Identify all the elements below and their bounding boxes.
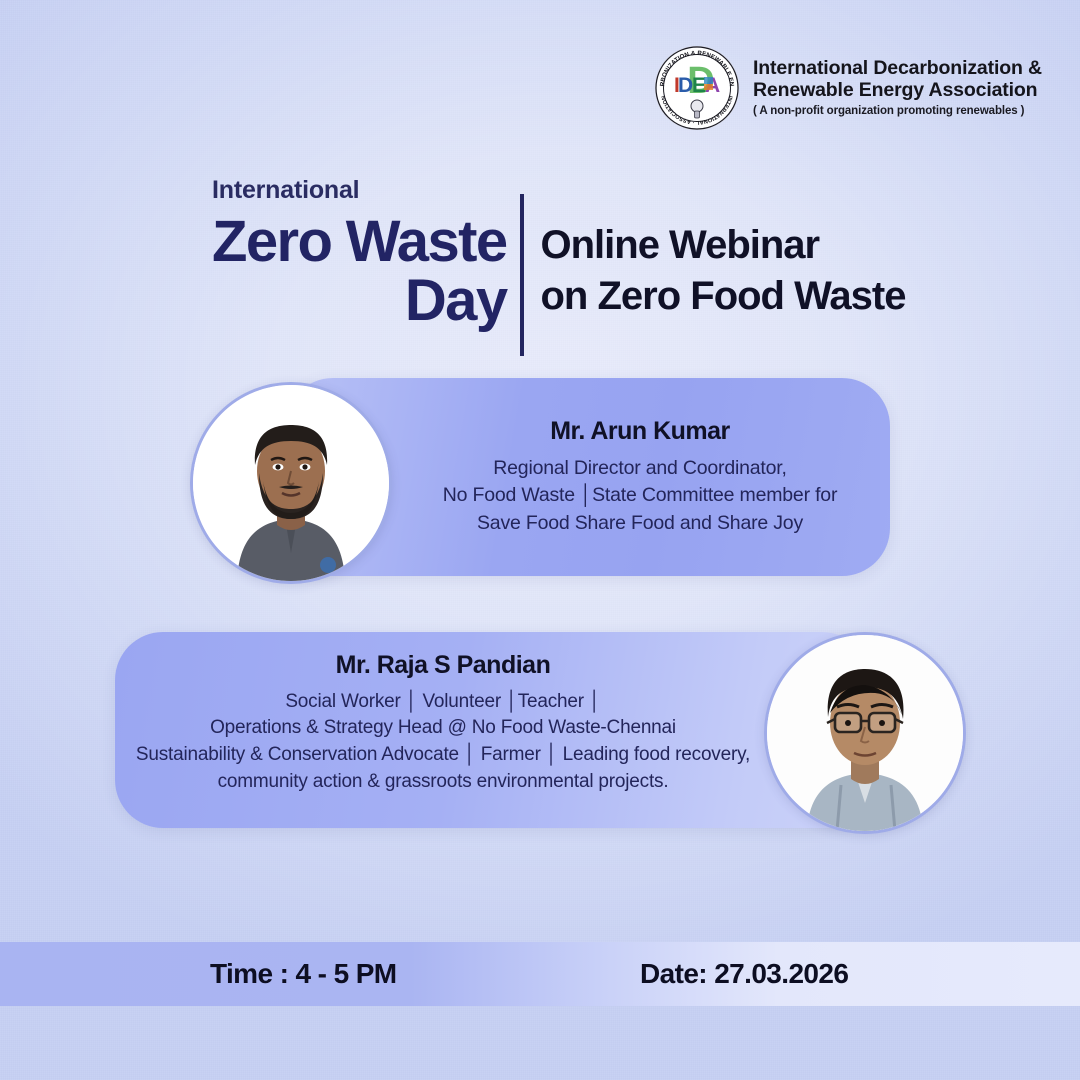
idea-circular-logo-icon: DECARBONIZATION & RENEWABLE ENERGY INTER… [655,46,739,130]
speaker-1-bio-line: Regional Director and Coordinator, [400,455,880,483]
org-tagline: ( A non-profit organization promoting re… [753,105,1042,118]
speaker-2-bio-line: Social Worker │ Volunteer │Teacher │ [128,689,758,716]
speaker-2-bio-line: community action & grassroots environmen… [128,769,758,796]
speaker-portrait-raja-s-pandian-icon [764,632,966,834]
speaker-2-name: Mr. Raja S Pandian [128,652,758,680]
title-side-line-1: Online Webinar [540,220,905,271]
title-main-line-2: Day [405,271,507,330]
event-time: Time : 4 - 5 PM [210,958,397,990]
svg-text:E: E [692,74,706,97]
title-side-line-2: on Zero Food Waste [540,271,905,322]
speaker-1-name: Mr. Arun Kumar [400,418,880,446]
footer-bar: Time : 4 - 5 PM Date: 27.03.2026 [0,942,1080,1006]
event-date: Date: 27.03.2026 [640,958,848,990]
speaker-1-bio-line: Save Food Share Food and Share Joy [400,510,880,538]
speaker-portrait-arun-kumar-icon [190,382,392,584]
title-rows: Zero Waste Day Online Webinar on Zero Fo… [212,212,905,330]
title-main: Zero Waste Day [212,212,520,330]
org-name-block: International Decarbonization & Renewabl… [753,58,1042,118]
speaker-1-bio-line: No Food Waste │State Committee member fo… [400,482,880,510]
title-kicker: International [212,178,905,203]
title-block: International Zero Waste Day Online Webi… [212,178,905,330]
speaker-2-bio-line: Sustainability & Conservation Advocate │… [128,742,758,769]
svg-text:D: D [678,74,693,97]
title-main-line-1: Zero Waste [212,212,506,271]
speaker-2-bio-line: Operations & Strategy Head @ No Food Was… [128,715,758,742]
speaker-1-text: Mr. Arun Kumar Regional Director and Coo… [400,418,880,538]
title-side: Online Webinar on Zero Food Waste [524,212,905,330]
speaker-2-text: Mr. Raja S Pandian Social Worker │ Volun… [128,652,758,796]
org-line-2: Renewable Energy Association [753,80,1042,102]
org-line-1: International Decarbonization & [753,58,1042,80]
org-header: DECARBONIZATION & RENEWABLE ENERGY INTER… [655,46,1042,130]
poster-canvas: DECARBONIZATION & RENEWABLE ENERGY INTER… [0,0,1080,1080]
